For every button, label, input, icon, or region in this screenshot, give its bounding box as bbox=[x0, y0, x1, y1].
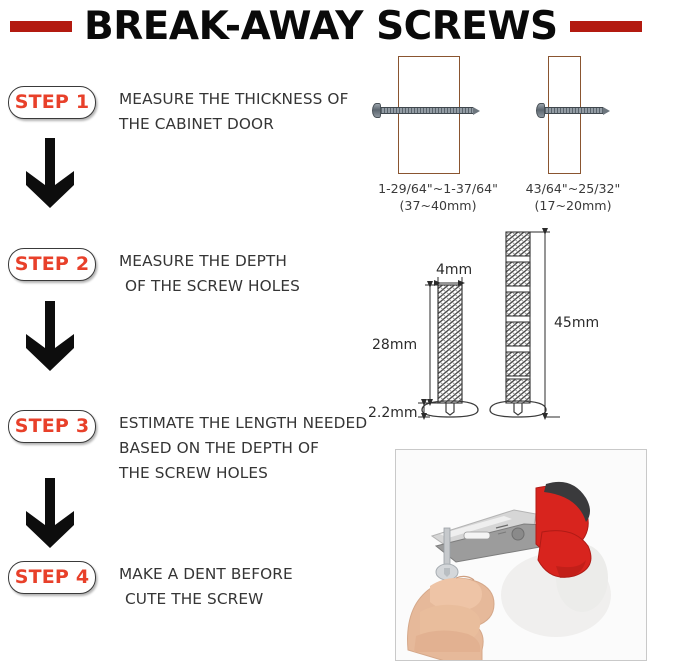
wood-block-thick bbox=[398, 56, 460, 174]
down-arrow-2 bbox=[24, 301, 76, 373]
wood-block-thin bbox=[548, 56, 581, 174]
pliers-denting-screw-photo bbox=[395, 449, 647, 661]
thick-door-caption-line1: 1-29/64"~1-37/64" bbox=[368, 180, 508, 197]
step-text-line: BASED ON THE DEPTH OF bbox=[119, 436, 367, 461]
step-text-2: MEASURE THE DEPTH OF THE SCREW HOLES bbox=[119, 248, 300, 299]
steps-column: STEP 1 MEASURE THE THICKNESS OF THE CABI… bbox=[0, 58, 368, 662]
screw-tip-icon bbox=[603, 107, 610, 115]
step-badge-label-3: STEP 3 bbox=[15, 417, 90, 436]
thin-door-caption: 43/64"~25/32" (17~20mm) bbox=[498, 180, 648, 214]
short-screw-length-dimension bbox=[425, 285, 438, 403]
short-screw-shaft bbox=[438, 285, 462, 403]
illustrations-column: 1-29/64"~1-37/64" (37~40mm) 43/64"~25/32… bbox=[368, 52, 679, 662]
pliers-red-handles bbox=[536, 482, 591, 578]
step-row-4: STEP 4 MAKE A DENT BEFORE CUTE THE SCREW bbox=[0, 561, 368, 612]
down-arrow-icon bbox=[24, 478, 76, 550]
thin-door-caption-line2: (17~20mm) bbox=[498, 197, 648, 214]
step-text-line: THE CABINET DOOR bbox=[119, 112, 348, 137]
head-height-label: 2.2mm bbox=[368, 405, 418, 421]
page-title: BREAK-AWAY SCREWS bbox=[84, 7, 558, 46]
down-arrow-icon bbox=[24, 138, 76, 210]
long-screw-segmented-shaft bbox=[506, 232, 530, 403]
step-row-2: STEP 2 MEASURE THE DEPTH OF THE SCREW HO… bbox=[0, 248, 368, 299]
screw-shaft bbox=[545, 107, 603, 114]
down-arrow-1 bbox=[24, 138, 76, 210]
screw-head-icon bbox=[372, 103, 381, 118]
diameter-label: 4mm bbox=[436, 262, 472, 278]
step-badge-label-4: STEP 4 bbox=[15, 568, 90, 587]
left-red-dash bbox=[10, 21, 72, 32]
step-text-line: THE SCREW HOLES bbox=[119, 461, 367, 486]
right-red-dash bbox=[570, 21, 642, 32]
step-text-line: CUTE THE SCREW bbox=[119, 587, 293, 612]
step-badge-label-2: STEP 2 bbox=[15, 255, 90, 274]
thick-door-figure bbox=[398, 56, 460, 174]
screw-head-icon bbox=[536, 103, 545, 118]
step-badge-4: STEP 4 bbox=[8, 561, 96, 594]
down-arrow-3 bbox=[24, 478, 76, 550]
step-text-line: MEASURE THE THICKNESS OF bbox=[119, 87, 348, 112]
screw-through-thick-door bbox=[372, 106, 480, 115]
step-text-line: ESTIMATE THE LENGTH NEEDED bbox=[119, 411, 367, 436]
step-row-3: STEP 3 ESTIMATE THE LENGTH NEEDED BASED … bbox=[0, 410, 368, 486]
step-row-1: STEP 1 MEASURE THE THICKNESS OF THE CABI… bbox=[0, 86, 368, 137]
step-text-3: ESTIMATE THE LENGTH NEEDED BASED ON THE … bbox=[119, 410, 367, 486]
step-badge-1: STEP 1 bbox=[8, 86, 96, 119]
total-length-label: 45mm bbox=[554, 315, 599, 331]
thin-door-caption-line1: 43/64"~25/32" bbox=[498, 180, 648, 197]
step-text-4: MAKE A DENT BEFORE CUTE THE SCREW bbox=[119, 561, 293, 612]
step-badge-label-1: STEP 1 bbox=[15, 93, 90, 112]
down-arrow-icon bbox=[24, 301, 76, 373]
step-text-line: MEASURE THE DEPTH bbox=[119, 249, 300, 274]
pliers-photo-svg bbox=[396, 450, 646, 660]
screw-through-thin-door bbox=[536, 106, 610, 115]
thick-door-caption-line2: (37~40mm) bbox=[368, 197, 508, 214]
step-text-line: MAKE A DENT BEFORE bbox=[119, 562, 293, 587]
screw-tip-icon bbox=[473, 107, 480, 115]
step-badge-2: STEP 2 bbox=[8, 248, 96, 281]
screw-shaft bbox=[381, 107, 473, 114]
door-thickness-figures: 1-29/64"~1-37/64" (37~40mm) 43/64"~25/32… bbox=[368, 52, 679, 217]
step-text-line: OF THE SCREW HOLES bbox=[119, 274, 300, 299]
step-text-1: MEASURE THE THICKNESS OF THE CABINET DOO… bbox=[119, 86, 348, 137]
page-header: BREAK-AWAY SCREWS bbox=[0, 0, 679, 52]
thick-door-caption: 1-29/64"~1-37/64" (37~40mm) bbox=[368, 180, 508, 214]
thread-length-label: 28mm bbox=[372, 337, 417, 353]
step-badge-3: STEP 3 bbox=[8, 410, 96, 443]
screw-dimension-drawing: 4mm 28mm 2.2mm 45mm bbox=[368, 227, 679, 432]
thin-door-figure bbox=[548, 56, 581, 174]
screw-dimension-svg: 4mm 28mm 2.2mm 45mm bbox=[368, 227, 679, 432]
